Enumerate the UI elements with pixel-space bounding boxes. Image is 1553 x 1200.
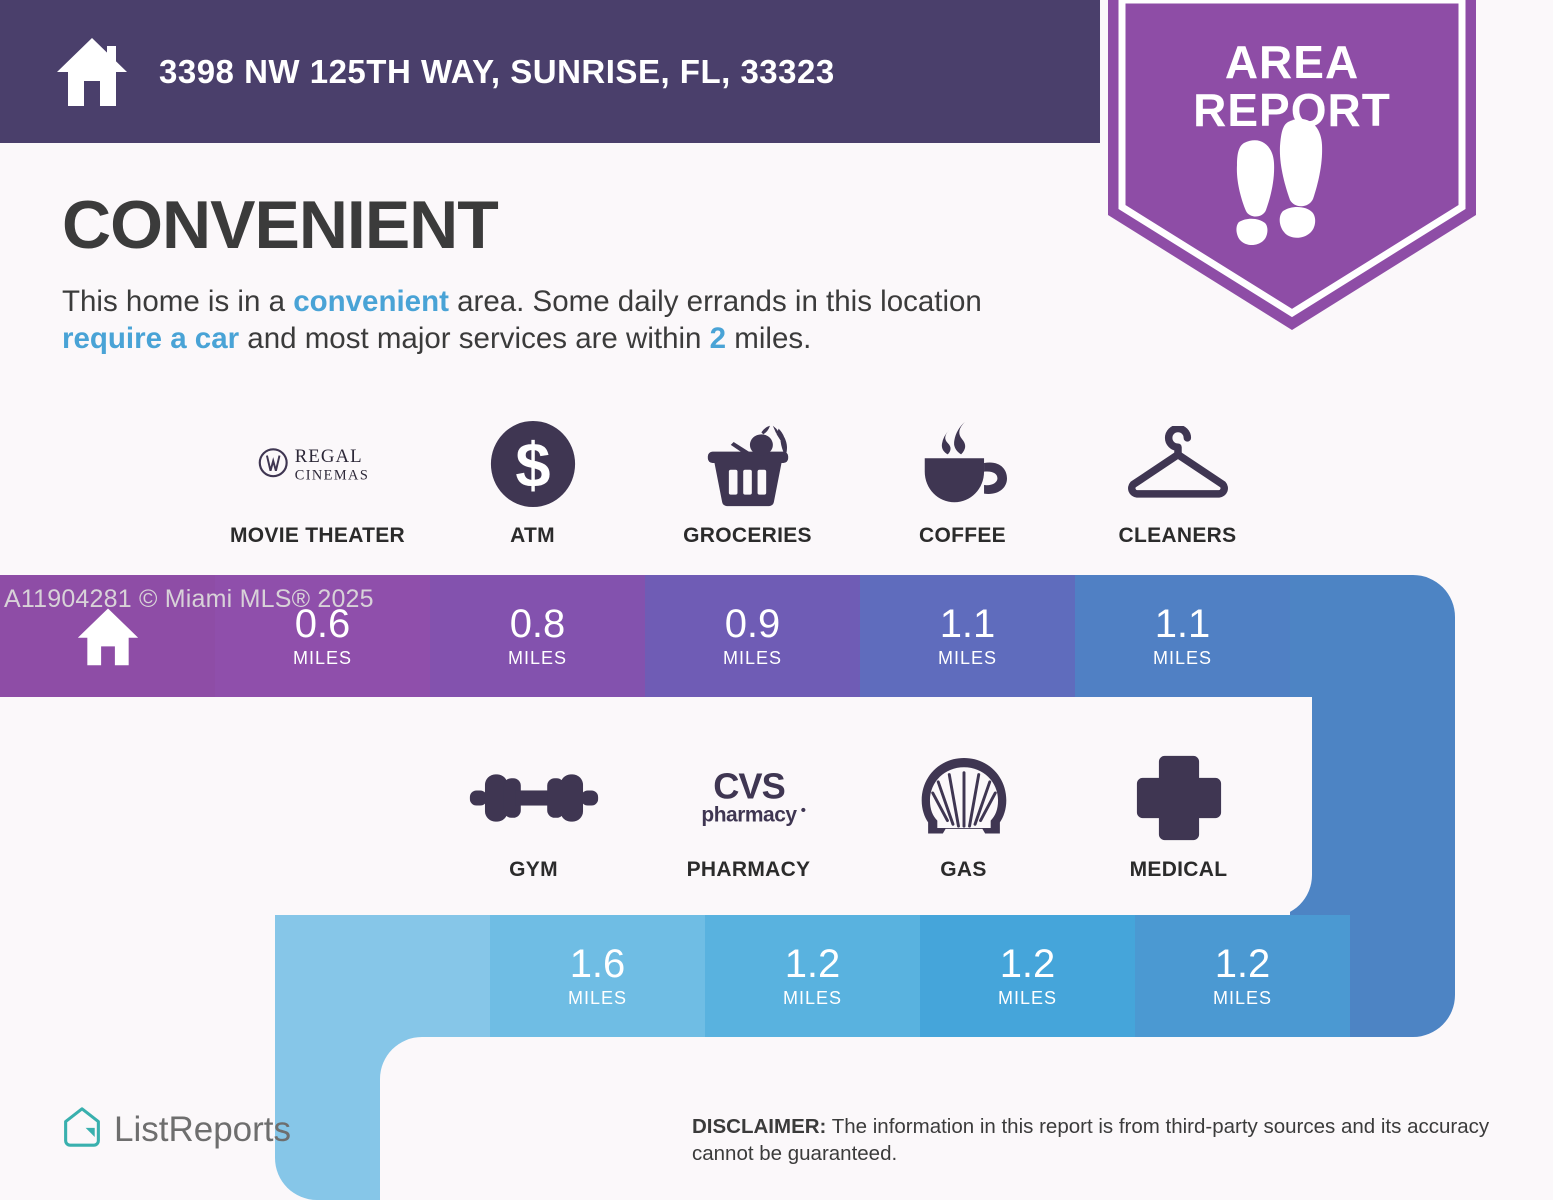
distance-value: 1.6 [570,944,626,984]
cvs-pharmacy-logo: CVS pharmacy [687,752,811,844]
medical-cross-icon [1135,752,1223,844]
shell-logo [918,752,1010,844]
category-gas: GAS [856,752,1071,882]
clothes-hanger-icon [1122,418,1234,510]
category-label: ATM [510,524,555,548]
svg-text:CINEMAS: CINEMAS [294,467,369,483]
category-gym: GYM [426,752,641,882]
home-icon [55,36,129,108]
category-label: GAS [940,858,986,882]
dumbbell-icon [468,752,600,844]
svg-text:$: $ [515,431,550,501]
category-label: CLEANERS [1119,524,1237,548]
category-label: PHARMACY [687,858,811,882]
badge-line-2: REPORT [1108,86,1476,134]
svg-text:REGAL: REGAL [294,445,362,466]
distance-segment: 1.1 MILES [1075,575,1290,697]
category-cleaners: CLEANERS [1070,418,1285,548]
distance-segment: 1.6 MILES [490,915,705,1037]
distance-unit: MILES [1213,988,1272,1009]
distance-value: 0.8 [510,604,566,644]
distance-segment: 1.1 MILES [860,575,1075,697]
category-label: MEDICAL [1130,858,1228,882]
badge-line-1: AREA [1108,38,1476,86]
area-report-page: 3398 NW 125TH WAY, SUNRISE, FL, 33323 AR… [0,0,1553,1200]
distance-value: 1.1 [1155,604,1211,644]
badge-title: AREA REPORT [1108,38,1476,134]
distance-value: 0.9 [725,604,781,644]
category-label: GYM [509,858,558,882]
summary-paragraph: This home is in a convenient area. Some … [62,283,1062,357]
distance-value: 1.2 [785,944,841,984]
category-pharmacy: CVS pharmacy PHARMACY [641,752,856,882]
distance-value: 1.1 [940,604,996,644]
distance-unit: MILES [293,648,352,669]
category-coffee: COFFEE [855,418,1070,548]
bar-spacer-segment [275,915,490,1037]
category-atm: $ ATM [425,418,640,548]
summary-highlight-3: 2 [710,322,726,355]
distance-unit: MILES [998,988,1057,1009]
header-bar: 3398 NW 125TH WAY, SUNRISE, FL, 33323 [0,0,1100,143]
category-row-2: GYM CVS pharmacy PHARMACY [426,752,1286,882]
coffee-cup-icon [915,418,1011,510]
svg-text:CVS: CVS [713,768,785,807]
category-label: COFFEE [919,524,1006,548]
summary-highlight-1: convenient [293,285,449,318]
summary-text-3: and most major services are within [239,322,710,355]
regal-cinemas-logo: REGAL CINEMAS [255,418,381,510]
distance-segment: 1.2 MILES [1135,915,1350,1037]
dollar-circle-icon: $ [489,418,577,510]
category-row-1: REGAL CINEMAS MOVIE THEATER $ ATM [210,418,1285,548]
summary-text-2: area. Some daily errands in this locatio… [449,285,982,318]
category-medical: MEDICAL [1071,752,1286,882]
listreports-logo: ListReports [62,1106,291,1153]
area-report-badge: AREA REPORT [1108,0,1476,330]
distance-unit: MILES [938,648,997,669]
distance-segment: 1.2 MILES [920,915,1135,1037]
page-title: CONVENIENT [62,186,498,264]
home-icon [75,605,141,667]
summary-highlight-2: require a car [62,322,239,355]
category-groceries: GROCERIES [640,418,855,548]
distance-unit: MILES [1153,648,1212,669]
property-address: 3398 NW 125TH WAY, SUNRISE, FL, 33323 [159,53,835,91]
distance-segment: 0.8 MILES [430,575,645,697]
disclaimer-label: DISCLAIMER: [692,1115,826,1138]
category-movie-theater: REGAL CINEMAS MOVIE THEATER [210,418,425,548]
distance-unit: MILES [783,988,842,1009]
distance-value: 1.2 [1215,944,1271,984]
disclaimer: DISCLAIMER: The information in this repo… [692,1113,1502,1167]
svg-text:pharmacy: pharmacy [701,803,797,826]
mls-watermark: A11904281 © Miami MLS® 2025 [4,585,374,614]
distance-segment: 1.2 MILES [705,915,920,1037]
listreports-brand-text: ListReports [114,1110,291,1150]
distance-unit: MILES [568,988,627,1009]
summary-text-4: miles. [726,322,811,355]
distance-value: 1.2 [1000,944,1056,984]
category-label: GROCERIES [683,524,812,548]
grocery-basket-icon [702,418,794,510]
category-label: MOVIE THEATER [230,524,405,548]
distance-bar-row-2: 1.6 MILES 1.2 MILES 1.2 MILES 1.2 MILES [275,915,1350,1037]
distance-unit: MILES [508,648,567,669]
distance-segment: 0.9 MILES [645,575,860,697]
distance-unit: MILES [723,648,782,669]
summary-text-1: This home is in a [62,285,293,318]
listreports-house-icon [62,1106,102,1153]
